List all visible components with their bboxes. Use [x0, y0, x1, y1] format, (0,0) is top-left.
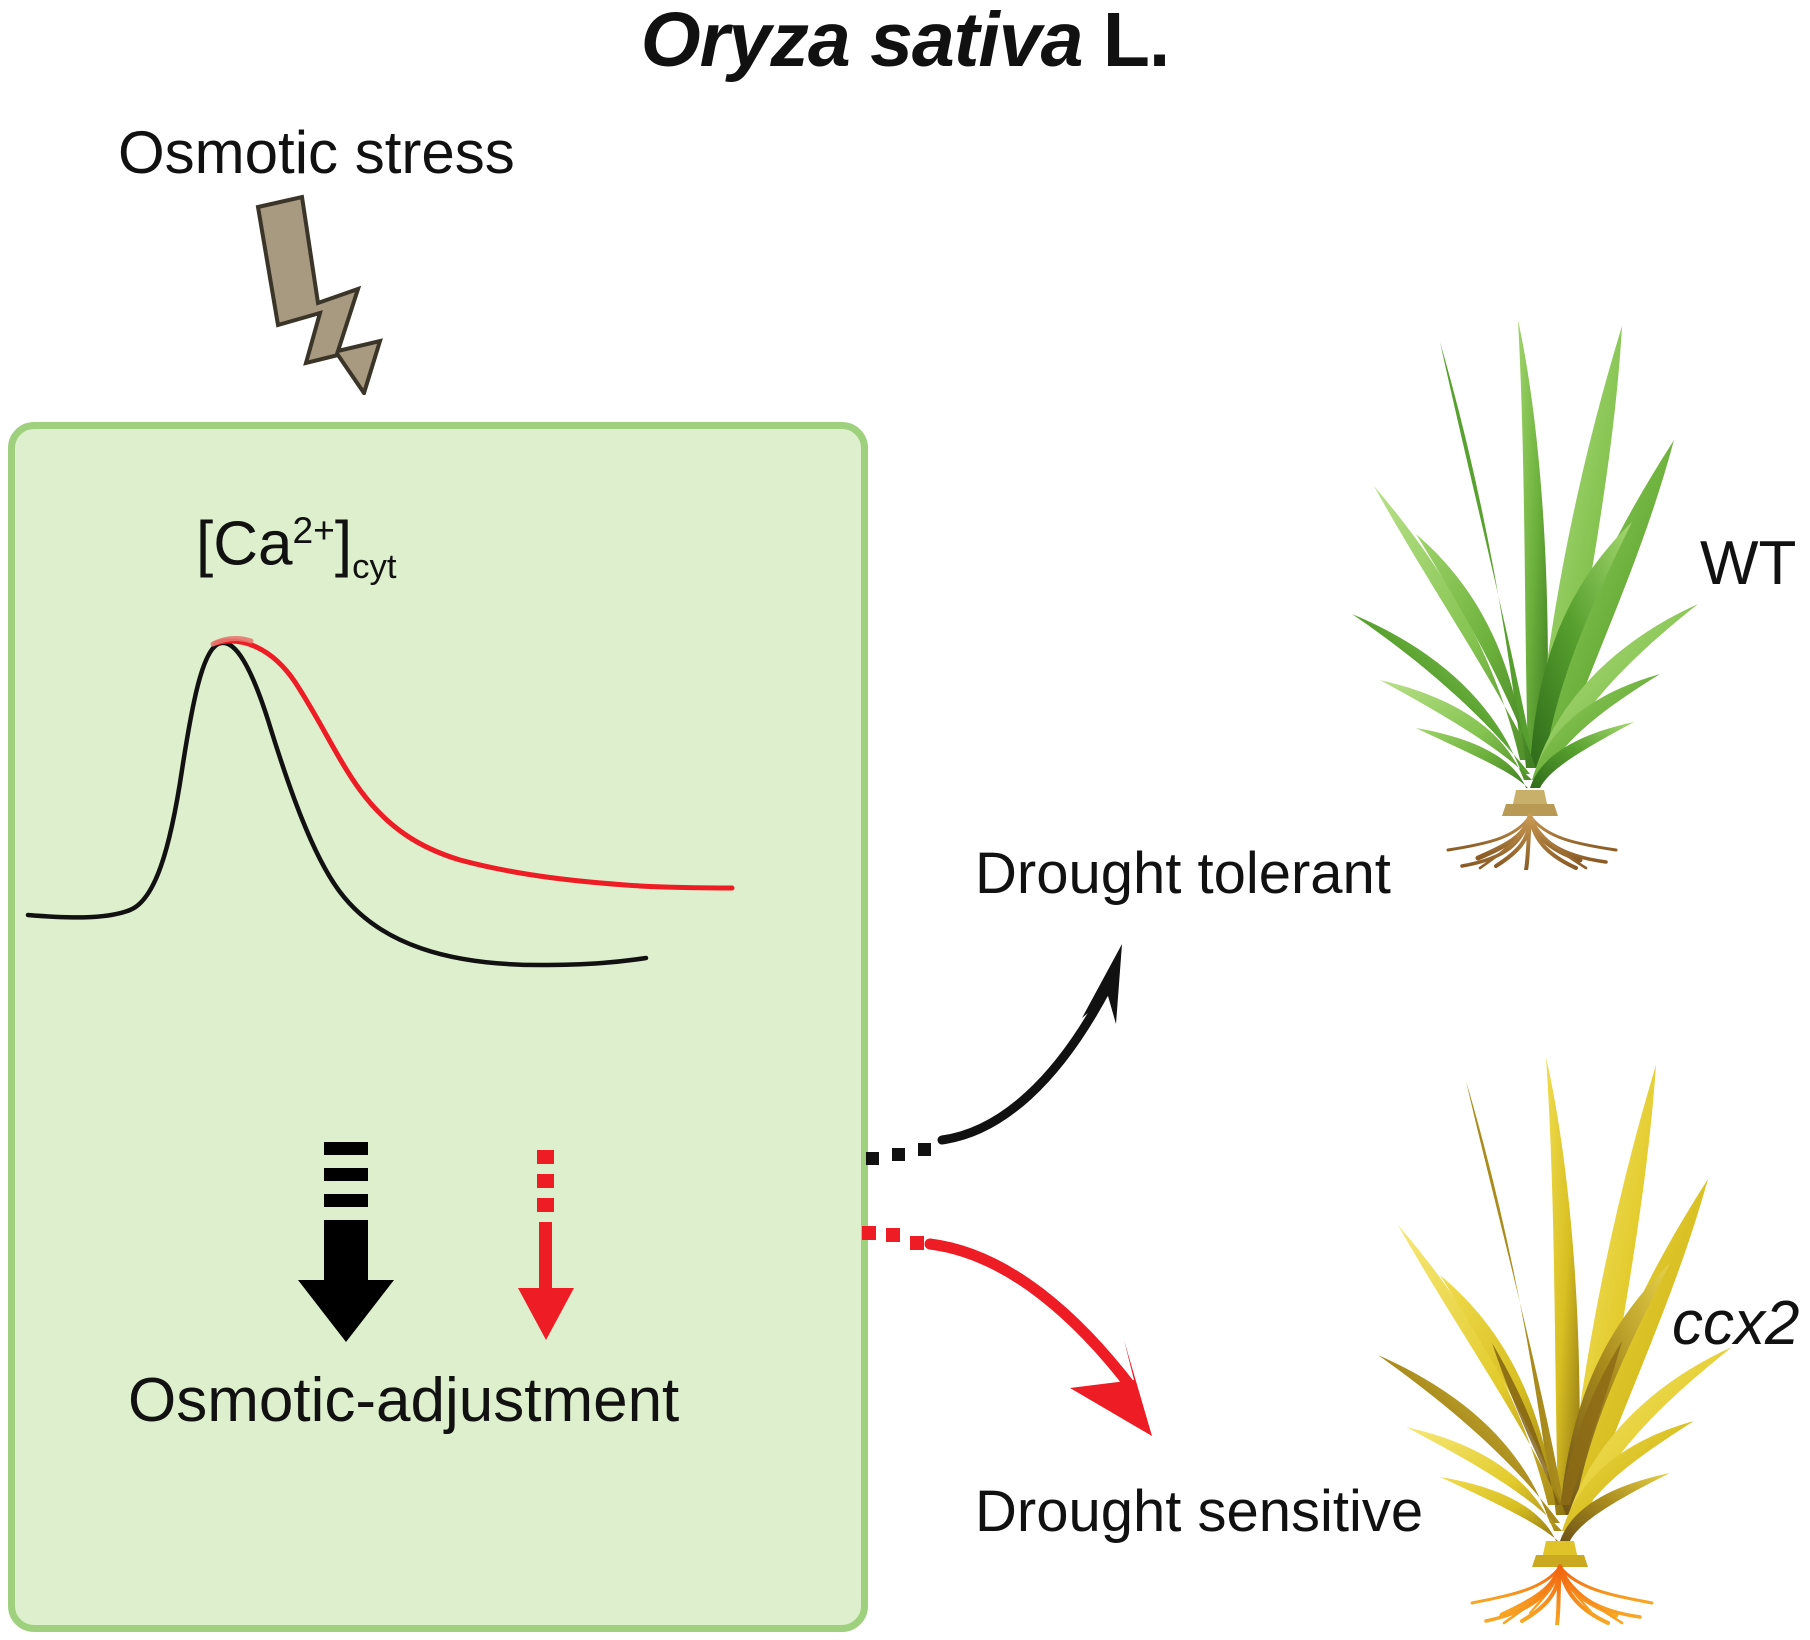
calcium-charge: 2+ [292, 509, 334, 551]
curved-down-arrow [860, 1210, 1290, 1470]
calcium-transient-chart [20, 610, 850, 1010]
withered-yellow-rice-plant [1360, 1035, 1760, 1625]
calcium-bracket-close: ] [335, 510, 352, 579]
drought-sensitive-label: Drought sensitive [975, 1478, 1423, 1545]
healthy-green-rice-plant [1330, 290, 1730, 870]
species-authority: L. [1103, 0, 1169, 83]
lightning-bolt-icon [230, 185, 450, 395]
chart-series-red [216, 641, 732, 888]
signalling-panel [8, 422, 868, 1632]
osmotic-stress-label: Osmotic stress [118, 118, 515, 187]
plant-root-group [1472, 1567, 1652, 1625]
drought-tolerant-label: Drought tolerant [975, 840, 1391, 907]
calcium-compartment: cyt [352, 548, 396, 586]
plant-root-group [1448, 816, 1616, 870]
black-down-arrow [290, 1140, 400, 1345]
species-name: Oryza sativa [641, 0, 1083, 83]
red-down-arrow [510, 1148, 586, 1343]
osmotic-adjustment-label: Osmotic-adjustment [128, 1365, 679, 1436]
calcium-concentration-label: [Ca2+]cyt [196, 512, 397, 585]
page-title: Oryza sativa L. [0, 2, 1810, 79]
curved-up-arrow [860, 900, 1200, 1180]
calcium-bracket-open: [Ca [196, 510, 292, 579]
chart-series-black [28, 643, 646, 965]
